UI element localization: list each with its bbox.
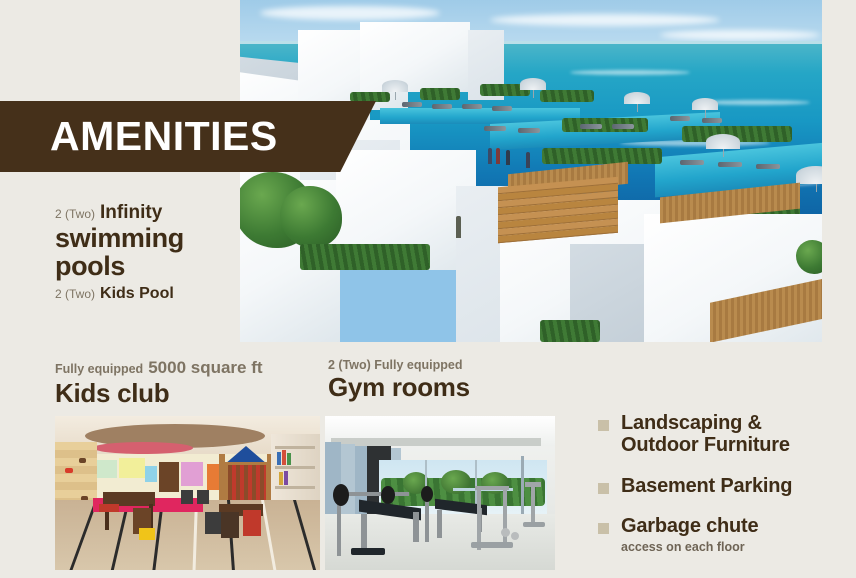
rack-base	[523, 522, 545, 527]
shelf	[275, 486, 315, 489]
sun-lounger	[432, 104, 452, 109]
book	[287, 453, 291, 465]
hedge	[542, 148, 662, 164]
stool-yellow	[139, 528, 155, 540]
rack-post	[477, 488, 481, 550]
hedge	[420, 88, 460, 100]
gym-qualifier: 2 (Two) Fully equipped	[328, 358, 463, 372]
feature-line-1: Landscaping &	[621, 412, 790, 434]
bench-leg	[361, 514, 367, 550]
parasol	[382, 80, 408, 92]
sun-lounger	[462, 104, 482, 109]
kids-pool-count-label: 2 (Two)	[55, 287, 95, 301]
kids-pool-name: Kids Pool	[100, 285, 174, 303]
kids-club-image	[55, 416, 320, 570]
weight-plate	[421, 486, 433, 502]
hedge	[540, 90, 594, 102]
person	[488, 148, 492, 164]
list-item: Landscaping & Outdoor Furniture	[598, 412, 848, 457]
stairs	[498, 177, 618, 243]
surf	[570, 70, 690, 75]
features-list: Landscaping & Outdoor Furniture Basement…	[598, 412, 848, 572]
stool	[205, 512, 221, 534]
wall-panel	[119, 458, 145, 478]
book	[284, 471, 288, 485]
sun-lounger	[702, 118, 722, 123]
cloud	[260, 6, 440, 20]
cloud	[660, 30, 820, 40]
rack-base	[471, 542, 513, 548]
feature-line-1: Garbage chute	[621, 515, 758, 537]
chair	[181, 490, 193, 504]
bullet-square-icon	[598, 523, 609, 534]
stool	[243, 510, 261, 536]
wall-panel	[181, 462, 203, 486]
sun-lounger	[718, 162, 742, 167]
climbing-hold	[79, 458, 86, 463]
sun-lounger	[756, 164, 780, 169]
rack-post	[531, 486, 535, 526]
rack-post	[503, 490, 507, 548]
sun-lounger	[612, 124, 634, 129]
feature-line-1: Basement Parking	[621, 475, 792, 497]
shelf	[275, 446, 315, 449]
shelf	[275, 466, 315, 469]
kids-club-qualifier-row: Fully equipped 5000 square ft	[55, 358, 263, 378]
feature-line-2: Outdoor Furniture	[621, 434, 790, 456]
sun-lounger	[580, 124, 602, 129]
planter-hedge	[540, 320, 600, 342]
ceiling-oval-accent	[93, 442, 193, 454]
feature-text: Basement Parking	[621, 475, 792, 497]
amenities-slide: AMENITIES 2 (Two) Infinity swimming pool…	[0, 0, 856, 578]
gym-image	[325, 416, 555, 570]
rack-bar	[525, 482, 541, 487]
parasol	[796, 166, 822, 184]
building-block	[360, 22, 470, 92]
pools-name-line2: swimming	[55, 224, 235, 252]
dumbbell	[511, 532, 519, 540]
sun-lounger	[670, 116, 690, 121]
pools-count-row: 2 (Two) Infinity	[55, 202, 235, 224]
feature-text: Landscaping & Outdoor Furniture	[621, 412, 790, 457]
wall-panel	[145, 466, 157, 482]
book	[277, 452, 281, 465]
window-mullion	[521, 456, 524, 516]
book	[279, 472, 283, 485]
hedge	[562, 118, 648, 132]
cloud	[490, 14, 720, 26]
hedge	[350, 92, 390, 102]
kids-club-size: 5000 square ft	[148, 358, 262, 378]
barbell	[339, 492, 409, 496]
sun-lounger	[492, 106, 512, 111]
sun-lounger	[402, 102, 422, 107]
person	[506, 150, 510, 165]
gym-title: Gym rooms	[328, 373, 470, 402]
kids-club-title: Kids club	[55, 379, 263, 408]
person	[496, 148, 500, 164]
kids-club-qualifier: Fully equipped	[55, 362, 143, 376]
feature-subtext: access on each floor	[621, 540, 758, 554]
pools-count-label: 2 (Two)	[55, 207, 95, 221]
parasol	[624, 92, 650, 104]
bench-leg	[413, 512, 419, 542]
tree	[280, 186, 342, 248]
bullet-square-icon	[598, 483, 609, 494]
parasol	[706, 134, 740, 149]
feature-text: Garbage chute access on each floor	[621, 515, 758, 553]
page-title: AMENITIES	[50, 116, 278, 157]
chair	[197, 490, 209, 504]
amenities-banner: AMENITIES	[0, 101, 376, 172]
stool	[99, 504, 119, 512]
person	[526, 152, 530, 168]
stool	[221, 512, 239, 538]
kids-pool-block: 2 (Two) Kids Pool	[55, 285, 174, 303]
rack-bar	[475, 486, 509, 490]
planter-hedge	[300, 244, 430, 270]
gym-qualifier-row: 2 (Two) Fully equipped	[328, 358, 470, 372]
climbing-hold	[65, 468, 73, 473]
parasol	[692, 98, 718, 110]
bench-foot	[351, 548, 385, 555]
parasol	[520, 78, 546, 90]
weight-plate	[333, 484, 349, 506]
sun-lounger	[518, 128, 540, 133]
sun-lounger	[680, 160, 704, 165]
infinity-pools-block: 2 (Two) Infinity swimming pools	[55, 202, 235, 280]
person	[456, 216, 461, 238]
book	[282, 450, 286, 465]
pools-name-line3: pools	[55, 252, 235, 280]
pools-name-line1: Infinity	[100, 202, 162, 224]
list-item: Basement Parking	[598, 475, 848, 497]
ceiling-edge	[331, 438, 541, 446]
weight-plate	[381, 486, 395, 504]
door	[159, 462, 179, 492]
kids-club-caption: Fully equipped 5000 square ft Kids club	[55, 358, 263, 408]
gym-caption: 2 (Two) Fully equipped Gym rooms	[328, 358, 470, 402]
list-item: Garbage chute access on each floor	[598, 515, 848, 553]
sun-lounger	[484, 126, 506, 131]
dumbbell	[501, 528, 510, 537]
bench-leg	[437, 510, 442, 538]
bullet-square-icon	[598, 420, 609, 431]
